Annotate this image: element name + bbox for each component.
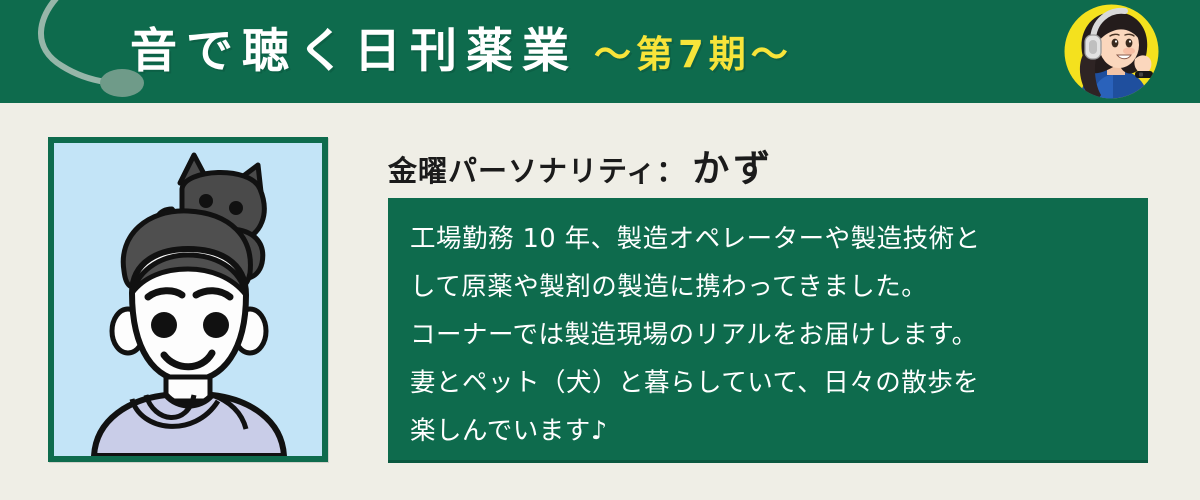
- personality-heading: 金曜パーソナリティ： かず: [388, 138, 774, 184]
- bio-box: 工場勤務 10 年、製造オペレーターや製造技術と して原薬や製剤の製造に携わって…: [388, 198, 1148, 463]
- personality-info: 金曜パーソナリティ： かず 工場勤務 10 年、製造オペレーターや製造技術と し…: [388, 103, 1158, 500]
- personality-portrait-illustration: [54, 143, 322, 456]
- personality-portrait: [54, 143, 322, 456]
- header-title-main: 音で聴く日刊薬業: [130, 28, 578, 75]
- header-title-season: ～第7期～: [594, 36, 793, 73]
- bio-line: 工場勤務 10 年、製造オペレーターや製造技術と: [410, 215, 1126, 263]
- host-avatar-icon: [1061, 1, 1162, 102]
- bio-line: コーナーでは製造現場のリアルをお届けします。: [410, 311, 1126, 359]
- main-content: 金曜パーソナリティ： かず 工場勤務 10 年、製造オペレーターや製造技術と し…: [0, 103, 1200, 500]
- bio-line: 楽しんでいます♪: [410, 407, 1126, 455]
- header-title: 音で聴く日刊薬業 ～第7期～: [130, 0, 1030, 103]
- personality-portrait-frame: [48, 137, 328, 462]
- bio-line: 妻とペット（犬）と暮らしていて、日々の散歩を: [410, 359, 1126, 407]
- personality-role-label: 金曜パーソナリティ：: [388, 148, 686, 190]
- personality-name: かず: [692, 138, 774, 192]
- bio-line: して原薬や製剤の製造に携わってきました。: [410, 263, 1126, 311]
- bio-text: 工場勤務 10 年、製造オペレーターや製造技術と して原薬や製剤の製造に携わって…: [410, 215, 1126, 455]
- header-banner: 音で聴く日刊薬業 ～第7期～: [0, 0, 1200, 103]
